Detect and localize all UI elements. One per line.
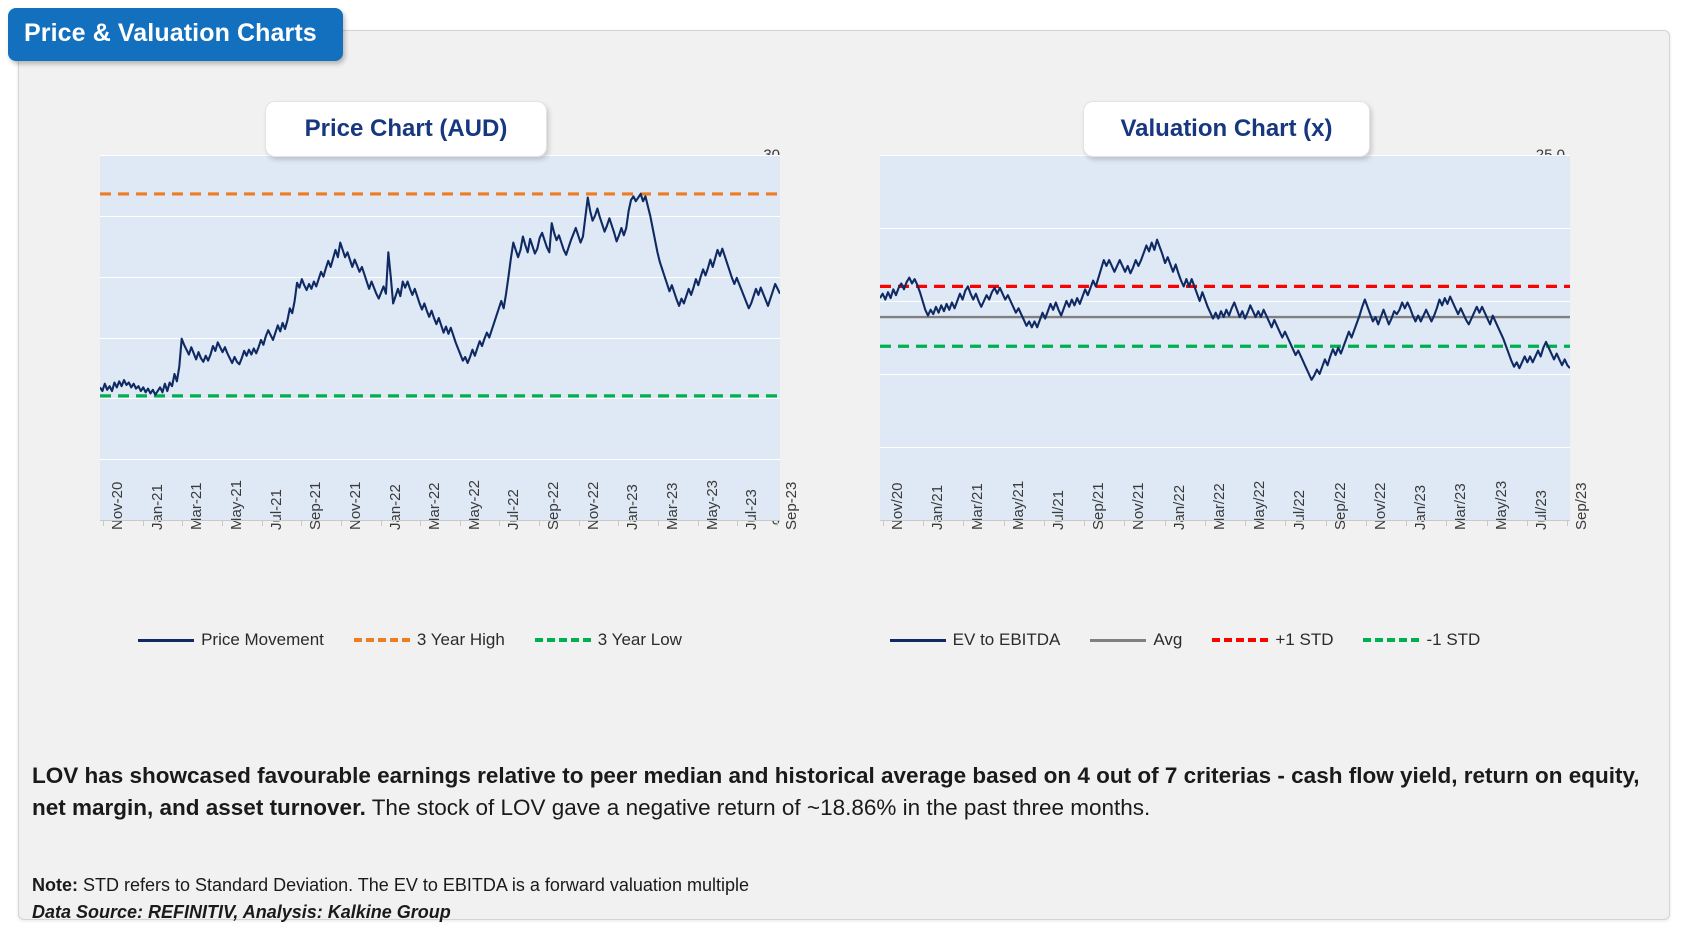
price-chart-plot-area: [100, 155, 780, 520]
x-axis-tick-label: Jan/23: [1412, 485, 1429, 530]
x-axis-tick-label: Mar/21: [969, 483, 986, 530]
x-axis-tick-label: Jan-22: [387, 484, 404, 530]
commentary-normal: The stock of LOV gave a negative return …: [366, 795, 1150, 820]
legend-item: Avg: [1090, 630, 1182, 650]
valuation-chart-x-axis: Nov/20Jan/21Mar/21May/21Jul/21Sep/21Nov/…: [880, 520, 1570, 620]
x-axis-tick-label: May-22: [466, 480, 483, 530]
x-axis-tick-label: Jan/21: [929, 485, 946, 530]
legend-item: +1 STD: [1212, 630, 1333, 650]
x-axis-tick-label: Nov/22: [1372, 482, 1389, 530]
legend-label: 3 Year Low: [598, 630, 682, 650]
data-series-line: [100, 194, 780, 395]
legend-swatch: [890, 639, 946, 642]
legend-label: +1 STD: [1275, 630, 1333, 650]
x-axis-tick-label: Jan-21: [149, 484, 166, 530]
x-axis-tick-label: Jul-23: [743, 489, 760, 530]
x-axis-tick-label: May/21: [1010, 481, 1027, 530]
commentary-paragraph: LOV has showcased favourable earnings re…: [32, 760, 1652, 824]
price-chart-x-axis: Nov-20Jan-21Mar-21May-21Jul-21Sep-21Nov-…: [100, 520, 780, 620]
x-axis-tick-label: Mar/22: [1211, 483, 1228, 530]
x-axis-tick-label: Sep-22: [545, 482, 562, 530]
x-axis-tick-label: Sep/23: [1573, 482, 1590, 530]
valuation-chart-title-card: Valuation Chart (x): [1083, 101, 1370, 157]
valuation-chart: -5.010.015.020.025.0 Nov/20Jan/21Mar/21M…: [805, 145, 1565, 665]
legend-swatch: [138, 639, 194, 642]
x-axis-tick-label: May/22: [1251, 481, 1268, 530]
x-axis-tick-label: Mar-22: [426, 482, 443, 530]
legend-item: Price Movement: [138, 630, 324, 650]
series-canvas: [880, 155, 1570, 520]
x-axis-tick-label: May-23: [704, 480, 721, 530]
x-axis-tick-label: Nov-22: [585, 482, 602, 530]
legend-swatch: [535, 638, 591, 642]
x-axis-tick-label: May-21: [228, 480, 245, 530]
legend-swatch: [1090, 639, 1146, 642]
legend-label: -1 STD: [1426, 630, 1480, 650]
x-axis-tick-label: Mar/23: [1452, 483, 1469, 530]
legend-item: -1 STD: [1363, 630, 1480, 650]
x-axis-tick-label: Sep/21: [1090, 482, 1107, 530]
legend-swatch: [354, 638, 410, 642]
footnote-source-line: Data Source: REFINITIV, Analysis: Kalkin…: [32, 899, 1232, 926]
x-axis-tick-label: Mar-21: [188, 482, 205, 530]
x-axis-tick-label: Sep/22: [1332, 482, 1349, 530]
data-series-line: [880, 240, 1570, 380]
x-axis-tick-label: Nov/21: [1130, 482, 1147, 530]
legend-item: 3 Year Low: [535, 630, 682, 650]
x-axis-tick-label: Nov-20: [109, 482, 126, 530]
price-chart: 051015202530 Nov-20Jan-21Mar-21May-21Jul…: [40, 145, 780, 665]
x-axis-tick-label: Nov/20: [889, 482, 906, 530]
x-axis-tick-label: Jan/22: [1171, 485, 1188, 530]
footnote-label: Note:: [32, 875, 78, 895]
x-axis-tick-label: May/23: [1493, 481, 1510, 530]
x-axis-tick-label: Sep-21: [307, 482, 324, 530]
legend-swatch: [1363, 638, 1419, 642]
legend-label: 3 Year High: [417, 630, 505, 650]
legend-label: EV to EBITDA: [953, 630, 1061, 650]
series-canvas: [100, 155, 780, 520]
section-header-badge: Price & Valuation Charts: [8, 8, 343, 61]
price-chart-title-card: Price Chart (AUD): [265, 101, 547, 157]
x-axis-tick-label: Jul/23: [1533, 490, 1550, 530]
screenshot-root: Price & Valuation Charts Price Chart (AU…: [0, 0, 1689, 937]
x-axis-tick-label: Jul/21: [1050, 490, 1067, 530]
legend-item: 3 Year High: [354, 630, 505, 650]
footnote-block: Note: STD refers to Standard Deviation. …: [32, 872, 1232, 926]
x-axis-tick-label: Jul/22: [1291, 490, 1308, 530]
footnote-note-line: Note: STD refers to Standard Deviation. …: [32, 872, 1232, 899]
legend-swatch: [1212, 638, 1268, 642]
footnote-text: STD refers to Standard Deviation. The EV…: [78, 875, 749, 895]
x-axis-tick-label: Sep-23: [783, 482, 800, 530]
valuation-chart-plot-area: [880, 155, 1570, 520]
x-axis-line: [880, 520, 1570, 521]
legend-item: EV to EBITDA: [890, 630, 1061, 650]
x-axis-line: [100, 520, 780, 521]
legend-label: Avg: [1153, 630, 1182, 650]
valuation-chart-legend: EV to EBITDAAvg+1 STD-1 STD: [805, 630, 1565, 650]
x-axis-tick-label: Jul-22: [505, 489, 522, 530]
x-axis-tick-label: Mar-23: [664, 482, 681, 530]
x-axis-tick-label: Jan-23: [624, 484, 641, 530]
price-chart-legend: Price Movement3 Year High3 Year Low: [40, 630, 780, 650]
legend-label: Price Movement: [201, 630, 324, 650]
x-axis-tick-label: Nov-21: [347, 482, 364, 530]
x-axis-tick-label: Jul-21: [268, 489, 285, 530]
